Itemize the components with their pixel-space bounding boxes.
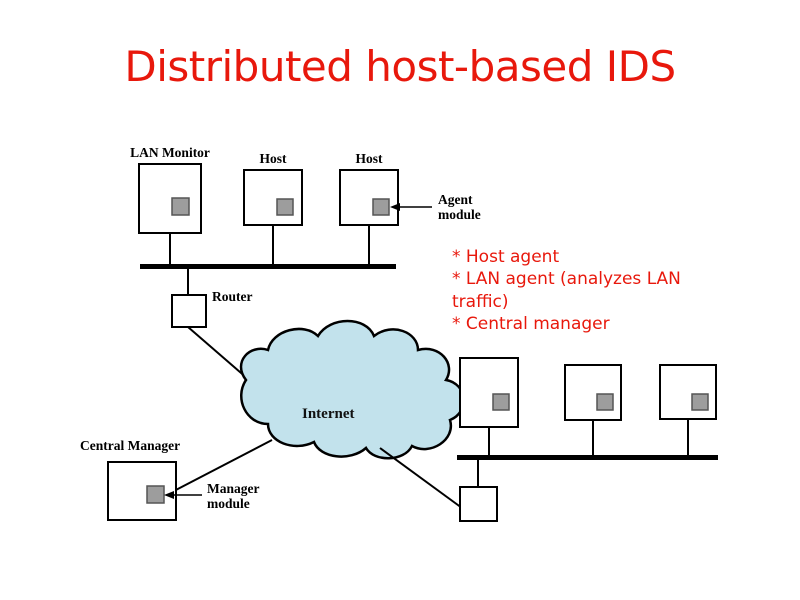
remote-host-3-agent-module-icon: [692, 394, 708, 410]
remote-host-2-agent-module-icon: [597, 394, 613, 410]
remote-host-3-box: [660, 365, 716, 419]
router-top-label: Router: [212, 289, 253, 304]
host-2-agent-module-icon: [373, 199, 389, 215]
lan-monitor-box: [139, 164, 201, 233]
lan-monitor-agent-module-icon: [172, 198, 189, 215]
host-2-box: [340, 170, 398, 225]
bullet-list: * Host agent * LAN agent (analyzes LAN t…: [452, 246, 742, 336]
lan-monitor-label: LAN Monitor: [130, 145, 210, 160]
internet-cloud-shape: [241, 321, 464, 458]
bullet-item-central-manager: * Central manager: [452, 313, 742, 335]
remote-host-1-agent-module-icon: [493, 394, 509, 410]
host-1-label: Host: [260, 151, 288, 166]
host-1-agent-module-icon: [277, 199, 293, 215]
internet-label: Internet: [302, 406, 355, 422]
manager-module-label-line1: Manager: [207, 481, 259, 496]
host-2-label: Host: [356, 151, 384, 166]
bullet-item-lan-agent-cont: traffic): [452, 291, 742, 313]
cloud-to-router-bottom-link: [380, 448, 462, 508]
bullet-item-lan-agent: * LAN agent (analyzes LAN: [452, 268, 742, 290]
router-top-to-cloud-link: [188, 327, 248, 379]
agent-module-label-line1: Agent: [438, 192, 473, 207]
router-top-box: [172, 295, 206, 327]
host-1-box: [244, 170, 302, 225]
remote-host-2-box: [565, 365, 621, 420]
agent-module-label-line2: module: [438, 207, 481, 222]
manager-module-label-line2: module: [207, 496, 250, 511]
router-bottom-box: [460, 487, 497, 521]
central-manager-label: Central Manager: [80, 438, 180, 453]
bullet-item-host-agent: * Host agent: [452, 246, 742, 268]
central-manager-box: [108, 462, 176, 520]
remote-host-1-box: [460, 358, 518, 427]
slide-canvas: Distributed host-based IDS LAN Monitor H…: [0, 0, 800, 600]
manager-module-icon: [147, 486, 164, 503]
